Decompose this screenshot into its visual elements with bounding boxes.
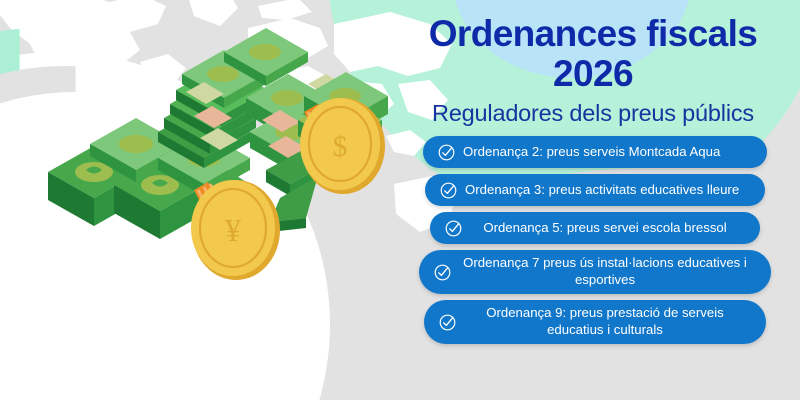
page-subtitle: Reguladores dels preus públics	[390, 100, 800, 127]
list-item[interactable]: Ordenança 2: preus serveis Montcada Aqua	[423, 136, 767, 168]
list-item[interactable]: Ordenança 5: preus servei escola bressol	[430, 212, 760, 244]
list-item-label: Ordenança 7 preus ús instal·lacions educ…	[459, 255, 755, 289]
list-item-label: Ordenança 2: preus serveis Montcada Aqua	[463, 144, 751, 161]
list-item[interactable]: Ordenança 7 preus ús instal·lacions educ…	[419, 250, 771, 294]
list-item-label: Ordenança 9: preus prestació de serveis …	[464, 305, 750, 339]
gold-coin-yen: ¥	[191, 180, 280, 280]
list-item[interactable]: Ordenança 9: preus prestació de serveis …	[424, 300, 766, 344]
check-circle-icon	[439, 181, 458, 200]
check-circle-icon	[437, 143, 456, 162]
svg-text:$: $	[333, 130, 348, 163]
title-year: 2026	[390, 54, 796, 94]
list-item[interactable]: Ordenança 3: preus activitats educatives…	[425, 174, 765, 206]
money-illustration-svg: $ ¥	[18, 22, 398, 302]
poster-canvas: $ ¥ Ordenances fiscals 2026 Regul	[0, 0, 800, 400]
check-circle-icon	[444, 219, 463, 238]
svg-text:¥: ¥	[225, 212, 241, 248]
check-circle-icon	[438, 313, 457, 332]
check-circle-icon	[433, 263, 452, 282]
content-column: Ordenances fiscals 2026 Reguladores dels…	[390, 0, 800, 400]
page-title: Ordenances fiscals 2026	[390, 14, 800, 93]
title-line-1: Ordenances fiscals	[429, 13, 758, 54]
ordinance-list: Ordenança 2: preus serveis Montcada Aqua…	[390, 136, 800, 344]
list-item-label: Ordenança 3: preus activitats educatives…	[465, 182, 749, 199]
money-illustration: $ ¥	[18, 22, 398, 302]
list-item-label: Ordenança 5: preus servei escola bressol	[470, 220, 744, 237]
